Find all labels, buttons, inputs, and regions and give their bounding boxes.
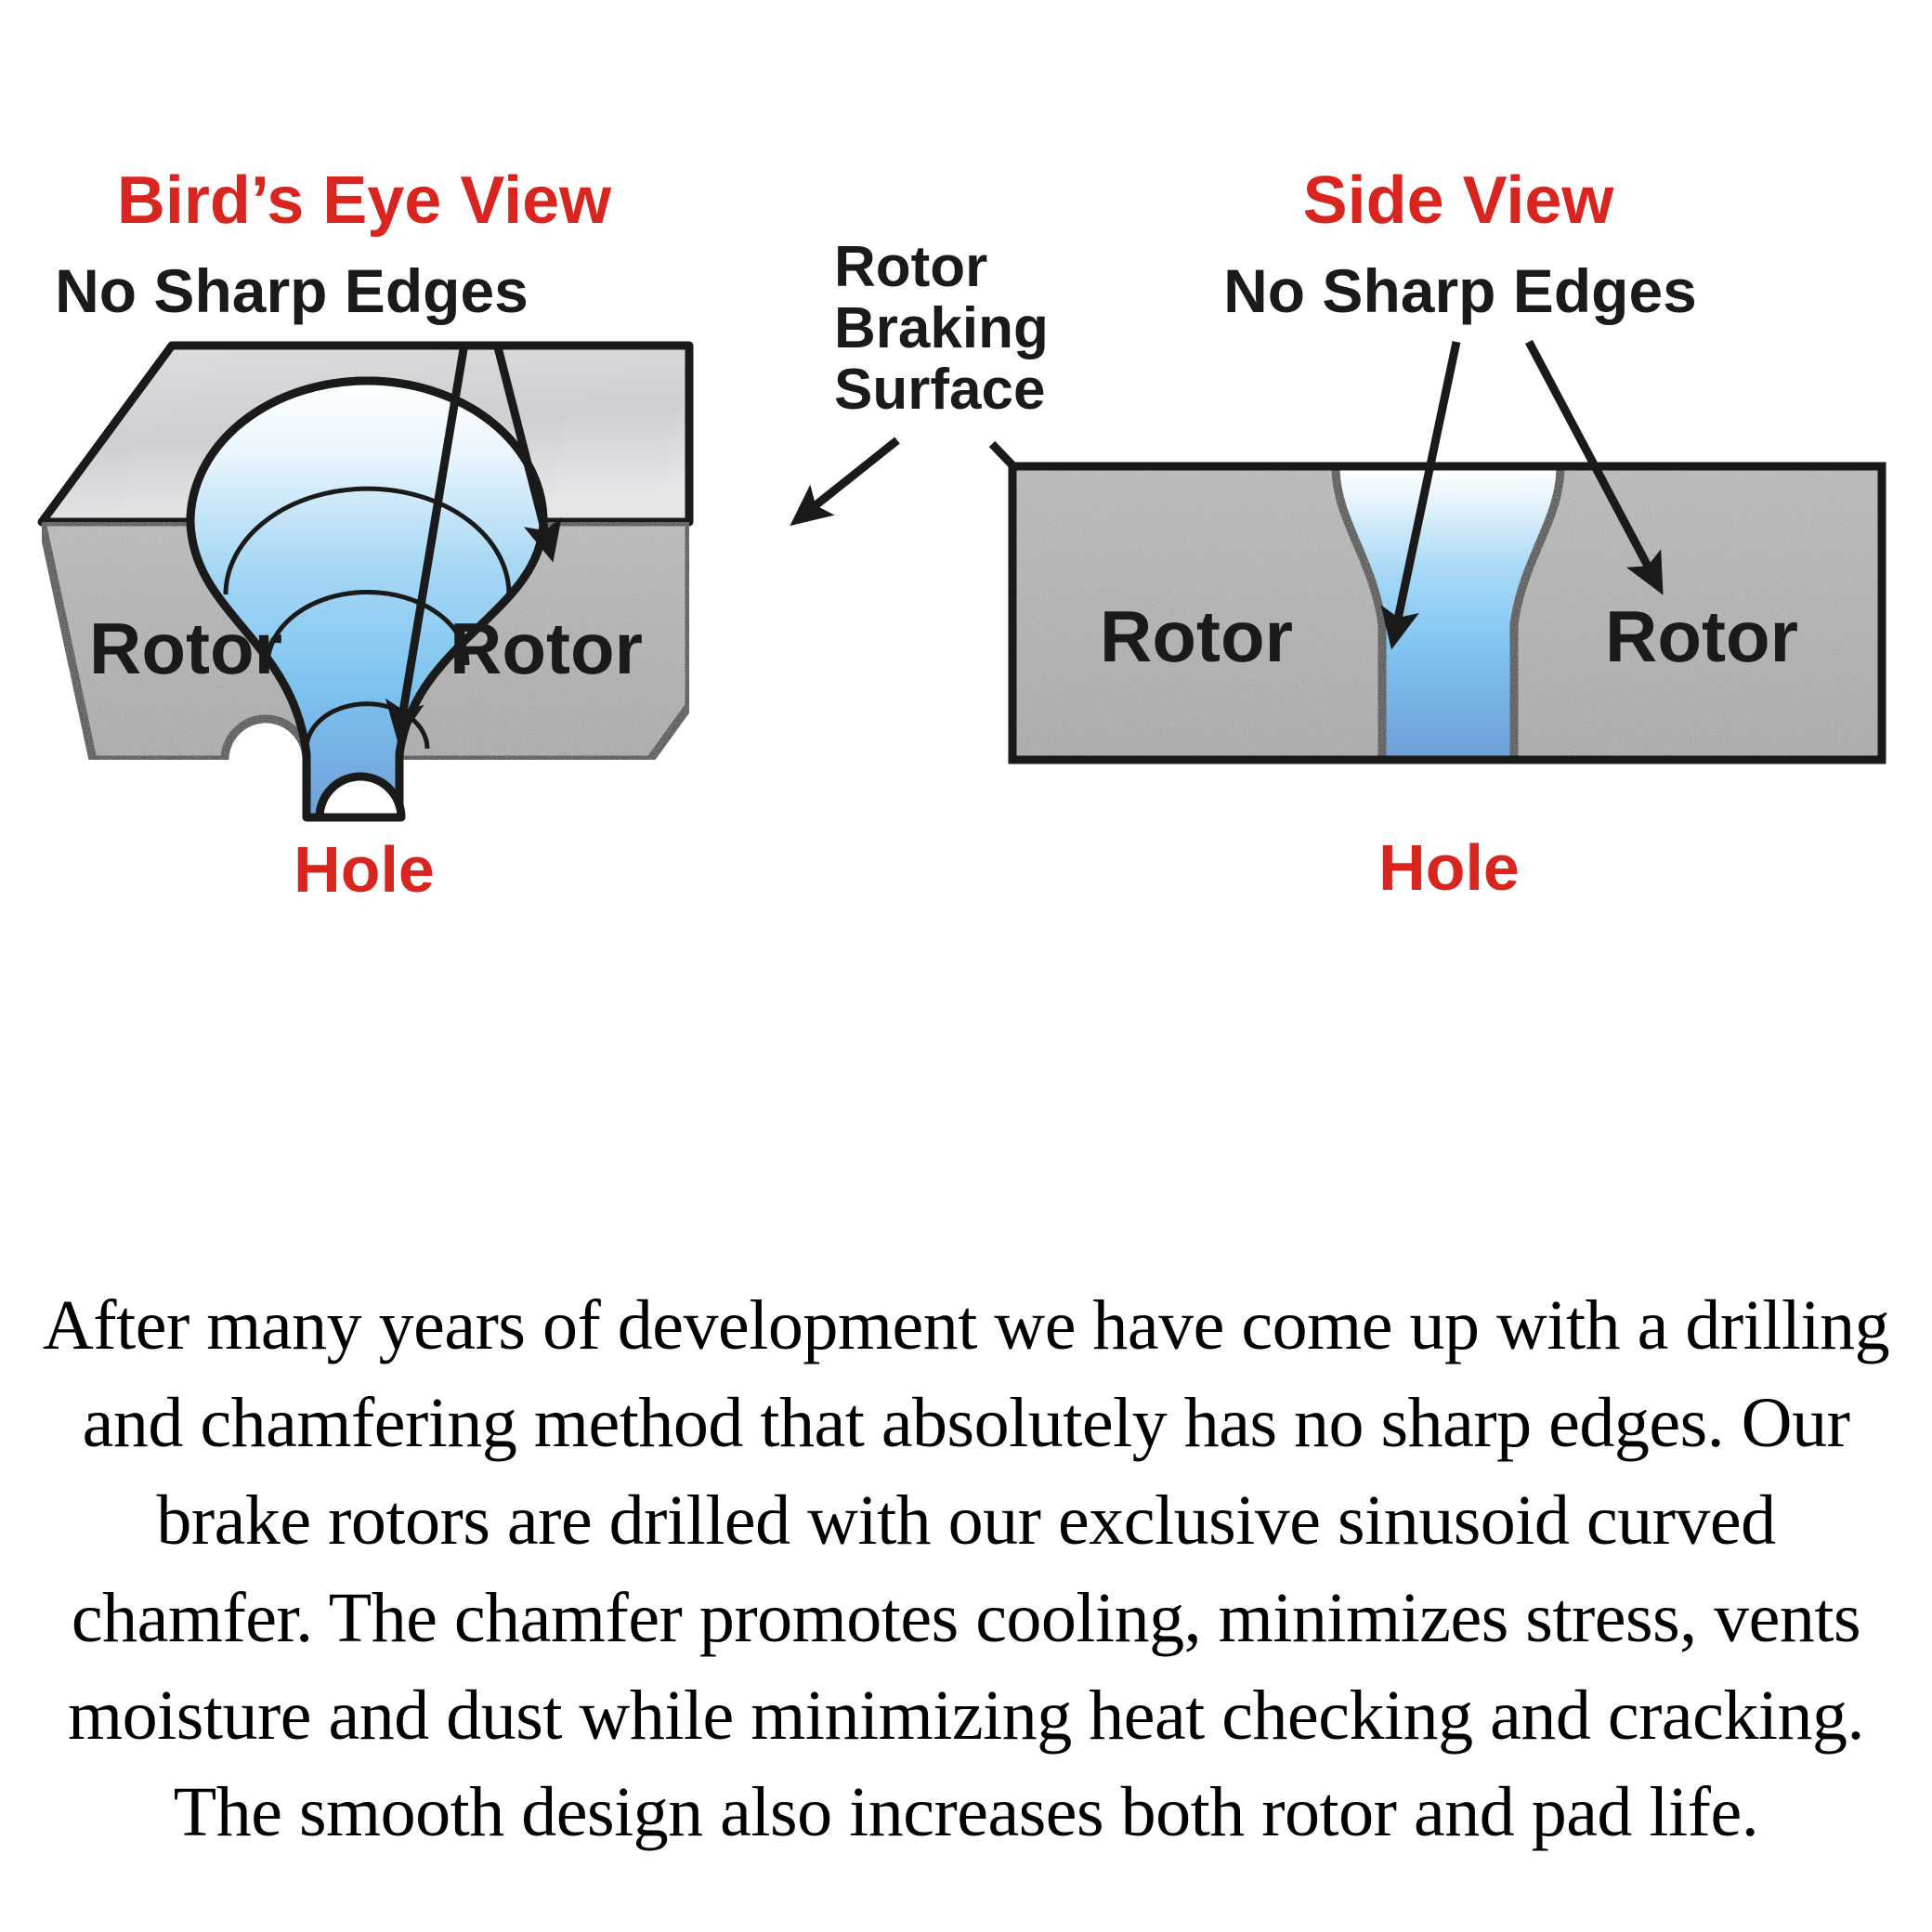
bird-eye-view-title: Bird’s Eye View bbox=[117, 163, 612, 238]
side-view-hole-label: Hole bbox=[1378, 831, 1520, 904]
description-paragraph: After many years of development we have … bbox=[0, 1277, 1932, 1861]
bird-eye-hole-label: Hole bbox=[294, 833, 435, 906]
description-line-4: chamfer. The chamfer promotes cooling, m… bbox=[26, 1570, 1906, 1667]
bird-eye-rotor-label-left: Rotor bbox=[89, 607, 282, 689]
rotor-braking-surface-label-line2: Braking bbox=[834, 296, 1049, 360]
bird-eye-no-sharp-edges-label: No Sharp Edges bbox=[55, 256, 529, 325]
rotor-block-3d bbox=[42, 346, 689, 817]
side-view-rotor-label-right: Rotor bbox=[1605, 595, 1798, 677]
bird-eye-view-group: Bird’s Eye View No Sharp Edges bbox=[42, 163, 689, 906]
rotor-braking-surface-label-line3: Surface bbox=[834, 358, 1045, 422]
hole-notch bbox=[320, 777, 401, 817]
description-line-5: moisture and dust while minimizing heat … bbox=[26, 1667, 1906, 1765]
page-root: Bird’s Eye View No Sharp Edges bbox=[0, 0, 1932, 1932]
description-line-2: and chamfering method that absolutely ha… bbox=[26, 1375, 1906, 1472]
side-view-no-sharp-edges-label: No Sharp Edges bbox=[1223, 256, 1697, 325]
description-line-6: The smooth design also increases both ro… bbox=[26, 1764, 1906, 1861]
bird-eye-rotor-label-right: Rotor bbox=[450, 607, 643, 689]
rotor-braking-surface-label-line1: Rotor bbox=[834, 235, 987, 299]
side-view-title: Side View bbox=[1303, 163, 1615, 238]
side-view-group: Side View No Sharp Edges Rotor Rotor Hol bbox=[1012, 163, 1882, 904]
leader-braking-surface-to-bird bbox=[797, 440, 897, 520]
description-line-3: brake rotors are drilled with our exclus… bbox=[26, 1472, 1906, 1570]
description-line-1: After many years of development we have … bbox=[26, 1277, 1906, 1375]
brake-rotor-chamfer-diagram: Bird’s Eye View No Sharp Edges bbox=[0, 0, 1932, 1245]
side-view-rotor-label-left: Rotor bbox=[1100, 595, 1293, 677]
